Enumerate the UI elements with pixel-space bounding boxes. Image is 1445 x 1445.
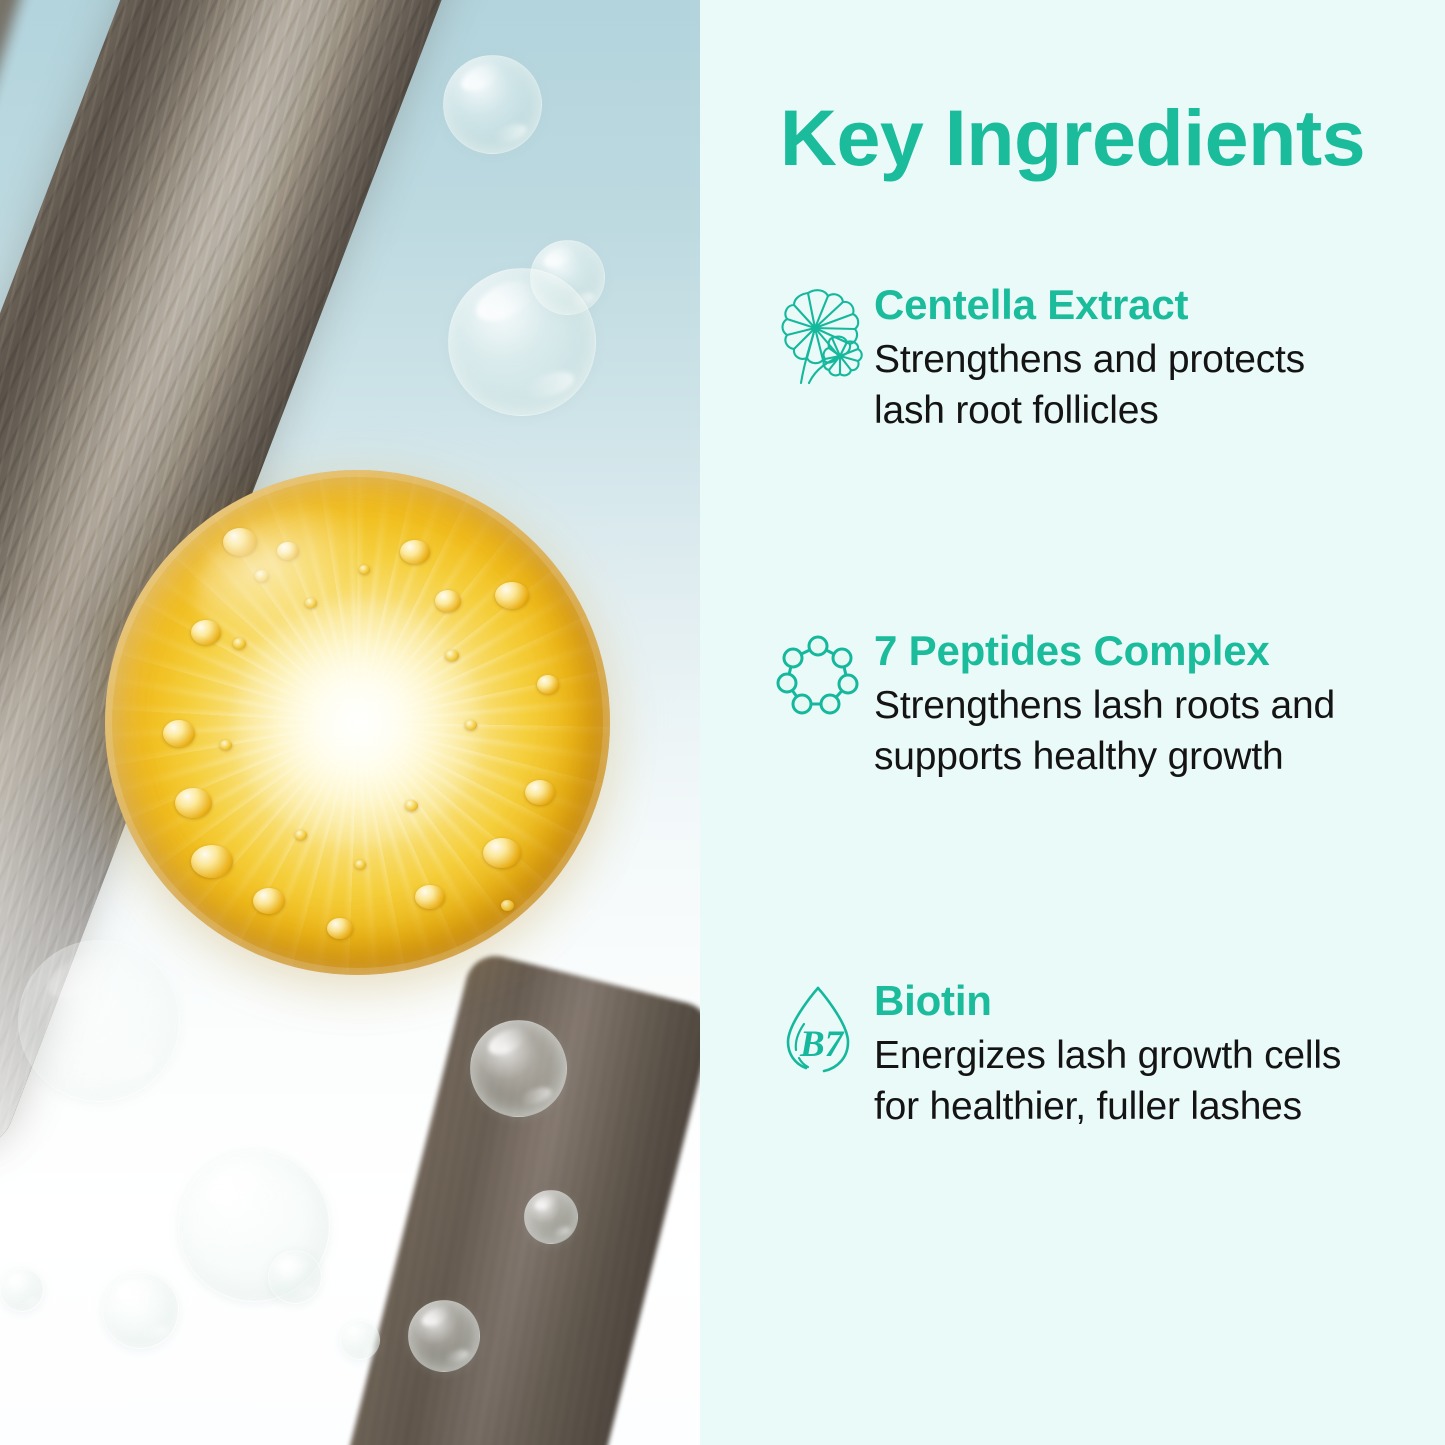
product-ingredient-photo [0, 0, 700, 1445]
key-ingredients-infographic: Key Ingredients [0, 0, 1445, 1445]
bubble [448, 268, 596, 416]
svg-text:B7: B7 [799, 1024, 845, 1065]
bubble [0, 1268, 44, 1312]
ingredient-name: Biotin [874, 978, 1405, 1023]
ingredient-description: Strengthens lash roots and supports heal… [874, 681, 1405, 782]
ingredient-item-centella-extract: Centella Extract Strengthens and protect… [766, 282, 1405, 437]
ingredient-text-block: 7 Peptides Complex Strengthens lash root… [870, 628, 1405, 783]
ingredient-text-block: Centella Extract Strengthens and protect… [870, 282, 1405, 437]
ingredient-description-line: lash root follicles [874, 386, 1405, 437]
ingredient-name: Centella Extract [874, 282, 1405, 327]
centella-leaf-icon [766, 282, 870, 386]
ingredient-item-biotin: B7 Biotin Energizes lash growth cells fo… [766, 978, 1405, 1133]
bubble [408, 1300, 480, 1372]
peptide-ring-icon [766, 628, 870, 724]
bubble [268, 1250, 322, 1304]
ingredients-panel: Key Ingredients [700, 0, 1445, 1445]
bubble [443, 55, 542, 154]
biotin-droplet-b7-icon: B7 [766, 978, 870, 1082]
bubble [102, 1272, 179, 1349]
bubble [340, 1320, 380, 1360]
amber-serum-sphere [105, 470, 610, 975]
ingredient-description-line: Strengthens lash roots and [874, 681, 1405, 732]
ingredient-name: 7 Peptides Complex [874, 628, 1405, 673]
ingredient-description-line: Energizes lash growth cells [874, 1031, 1405, 1082]
ingredient-text-block: Biotin Energizes lash growth cells for h… [870, 978, 1405, 1133]
ingredient-description-line: supports healthy growth [874, 732, 1405, 783]
ingredient-description-line: for healthier, fuller lashes [874, 1082, 1405, 1133]
ingredient-item-7-peptides-complex: 7 Peptides Complex Strengthens lash root… [766, 628, 1405, 783]
bubble [524, 1190, 578, 1244]
bubble [470, 1020, 567, 1117]
ingredient-description: Strengthens and protects lash root folli… [874, 335, 1405, 436]
ingredient-description: Energizes lash growth cells for healthie… [874, 1031, 1405, 1132]
page-title: Key Ingredients [700, 98, 1445, 177]
bubble [18, 940, 180, 1102]
ingredient-description-line: Strengthens and protects [874, 335, 1405, 386]
